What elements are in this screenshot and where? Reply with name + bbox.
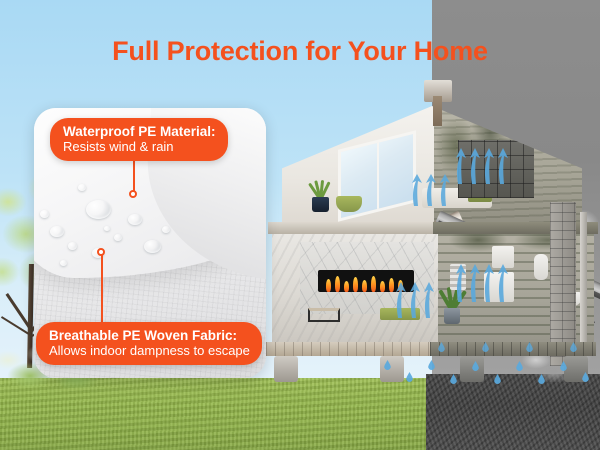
callout-subtitle: Allows indoor dampness to escape	[49, 343, 250, 358]
callout-subtitle: Resists wind & rain	[63, 139, 216, 154]
water-droplet-icon	[40, 210, 49, 218]
callout-badge-breathable[interactable]: Breathable PE Woven Fabric: Allows indoo…	[36, 322, 262, 365]
house-cutaway	[258, 84, 600, 384]
infographic-canvas: Waterproof PE Material: Resists wind & r…	[0, 0, 600, 450]
leader-dot-breathable	[97, 248, 105, 256]
callout-badge-waterproof[interactable]: Waterproof PE Material: Resists wind & r…	[50, 118, 228, 161]
water-droplet-icon	[406, 372, 413, 382]
water-droplet-icon	[516, 361, 523, 371]
water-heater	[534, 254, 548, 280]
lawn-green-left	[0, 378, 426, 450]
leader-line-breathable	[101, 253, 103, 325]
leader-dot-waterproof	[129, 190, 137, 198]
water-droplet-icon	[78, 184, 86, 191]
side-table	[308, 308, 340, 322]
foundation-pier	[380, 356, 404, 382]
water-droplet-icon	[104, 226, 110, 231]
callout-title: Waterproof PE Material:	[63, 124, 216, 139]
upper-floor	[282, 106, 582, 226]
water-droplet-icon	[114, 234, 122, 241]
water-droplet-icon	[60, 260, 67, 266]
moisture-arrow-icon	[452, 262, 512, 304]
water-droplet-icon	[128, 214, 142, 225]
water-droplet-icon	[450, 374, 457, 384]
roof-ridge-beam	[424, 80, 452, 102]
water-droplet-icon	[86, 200, 111, 219]
foundation-pier	[460, 356, 484, 382]
water-droplet-icon	[162, 226, 170, 233]
foundation-pier	[274, 356, 298, 382]
page-title: Full Protection for Your Home	[0, 36, 600, 67]
green-bowl	[336, 196, 362, 212]
callout-title: Breathable PE Woven Fabric:	[49, 328, 250, 343]
moisture-arrow-icon	[392, 280, 438, 320]
moisture-arrow-icon	[452, 146, 514, 186]
moisture-arrow-icon	[408, 172, 454, 208]
water-droplet-icon	[68, 242, 77, 250]
water-droplet-icon	[428, 360, 435, 370]
water-droplet-icon	[494, 374, 501, 384]
water-droplet-icon	[144, 240, 161, 253]
ground-dark-right	[426, 374, 600, 450]
water-droplet-icon	[50, 226, 64, 237]
potted-plant-upper	[306, 178, 334, 212]
water-droplet-icon	[538, 374, 545, 384]
